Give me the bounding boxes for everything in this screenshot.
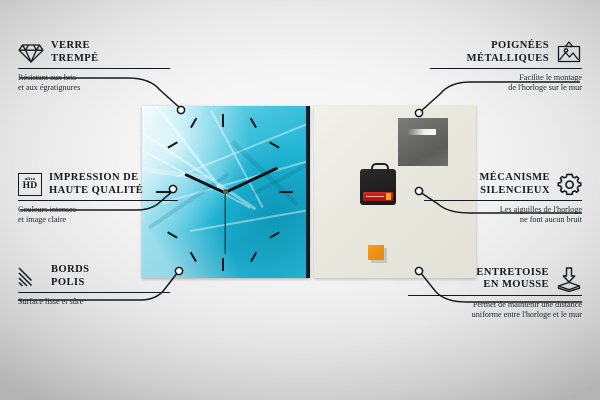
callout-rule <box>408 295 582 296</box>
clock-marker <box>190 252 197 262</box>
callout-rule <box>18 200 178 201</box>
callout-title: MÉCANISME SILENCIEUX <box>479 172 550 197</box>
metallic-hanger-plate <box>398 118 448 166</box>
clock-marker <box>190 118 197 128</box>
callout-subtitle: Facilite le montage de l'horloge sur le … <box>430 73 582 93</box>
callout-title: IMPRESSION DE HAUTE QUALITÉ <box>49 172 143 197</box>
mechanism-hook <box>371 163 389 173</box>
callout-mecanisme-silencieux: MÉCANISME SILENCIEUX Les aiguilles de l'… <box>424 172 582 225</box>
battery-plus-terminal <box>386 193 391 200</box>
picture-frame-icon <box>556 41 582 64</box>
clock-glass-edge <box>306 106 310 278</box>
infographic-canvas: VERRE TREMPÉ Résistant aux bris et aux é… <box>0 0 600 400</box>
callout-title: POIGNÉES MÉTALLIQUES <box>467 40 549 65</box>
polished-edges-icon <box>18 266 44 288</box>
clock-marker <box>167 141 177 148</box>
gear-icon <box>557 172 582 197</box>
callout-rule <box>18 68 170 69</box>
clock-marker <box>250 118 257 128</box>
clock-mechanism <box>360 169 396 205</box>
callout-title: BORDS POLIS <box>51 264 89 289</box>
callout-subtitle: Résistant aux bris et aux égratignures <box>18 73 170 93</box>
clock-marker <box>167 231 177 238</box>
callout-rule <box>430 68 582 69</box>
foam-spacer-icon <box>556 266 582 292</box>
ultra-hd-big-text: HD <box>23 182 38 192</box>
callout-subtitle: Couleurs intenses et image claire <box>18 205 178 225</box>
clock-center-pivot <box>223 189 228 194</box>
callout-subtitle: Les aiguilles de l'horloge ne font aucun… <box>424 205 582 225</box>
clock-marker <box>269 231 279 238</box>
ultra-hd-icon: ultra HD <box>18 173 42 196</box>
battery-stripe <box>366 196 384 197</box>
clock-marker <box>269 141 279 148</box>
clock-marker <box>250 252 257 262</box>
clock-second-hand <box>224 192 225 254</box>
callout-verre-trempe: VERRE TREMPÉ Résistant aux bris et aux é… <box>18 40 170 93</box>
callout-bords-polis: BORDS POLIS Surface lisse et sûre <box>18 264 170 307</box>
callout-entretoise-en-mousse: ENTRETOISE EN MOUSSE Permet de maintenir… <box>408 266 582 320</box>
foam-spacer <box>368 245 384 260</box>
diamond-icon <box>18 42 44 64</box>
callout-poignees-metalliques: POIGNÉES MÉTALLIQUES Facilite le montage… <box>430 40 582 93</box>
callout-subtitle: Surface lisse et sûre <box>18 297 170 307</box>
callout-subtitle: Permet de maintenir une distance uniform… <box>408 300 582 320</box>
clock-marker <box>222 258 224 271</box>
clock-marker <box>222 114 224 127</box>
callout-title: ENTRETOISE EN MOUSSE <box>476 267 549 292</box>
battery <box>363 192 393 201</box>
callout-impression-hd: ultra HD IMPRESSION DE HAUTE QUALITÉ Cou… <box>18 172 178 225</box>
callout-rule <box>424 200 582 201</box>
hanger-slot <box>408 129 436 135</box>
clock-marker <box>279 191 293 193</box>
callout-title: VERRE TREMPÉ <box>51 40 99 65</box>
callout-rule <box>18 292 170 293</box>
